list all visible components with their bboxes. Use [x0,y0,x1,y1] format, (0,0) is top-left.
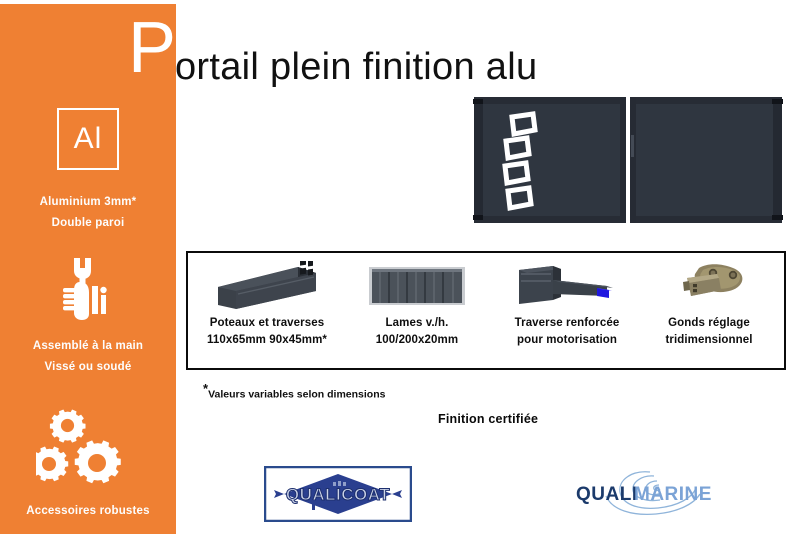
footnote-text: Valeurs variables selon dimensions [208,389,385,401]
product-sub-slats: 100/200x20mm [342,331,492,349]
sidebar-feature-assembly: Assemblé à la main Vissé ou soudé [0,252,176,378]
reinforced-crossbar-art [492,257,642,315]
sidebar-feature-aluminium-line2: Double paroi [0,213,176,234]
product-title-slats: Lames v./h. [342,315,492,331]
product-sub-crossbar: pour motorisation [492,331,642,349]
product-title-posts: Poteaux et traverses [192,315,342,331]
products-specs-box: Poteaux et traverses 110x65mm 90x45mm* [186,251,786,370]
aluminium-square-icon: Al [0,108,176,186]
certification-heading: Finition certifiée [438,412,538,426]
qualimarine-wordmark-quali: QUALI [576,484,638,505]
product-title-crossbar: Traverse renforcée [492,315,642,331]
sidebar-feature-assembly-line2: Vissé ou soudé [0,357,176,378]
slide-root: Al Aluminium 3mm* Double paroi [0,0,800,534]
sidebar-feature-assembly-line1: Assemblé à la main [0,336,176,357]
sidebar-feature-accessories-line1: Accessoires robustes [0,501,176,522]
gears-icon [0,409,176,495]
hand-wrench-icon [0,252,176,330]
sidebar-feature-aluminium-line1: Aluminium 3mm* [0,192,176,213]
product-item-posts: Poteaux et traverses 110x65mm 90x45mm* [192,257,342,367]
aluminium-square-outline: Al [57,108,119,170]
qualicoat-wordmark: QUALICOAT [286,485,390,504]
adjustable-hinge-art [634,257,784,315]
product-title-hinge: Gonds réglage [634,315,784,331]
qualicoat-logo: QUALICOAT [264,466,412,522]
page-title-text: ortail plein finition alu [175,46,537,88]
product-sub-posts: 110x65mm 90x45mm* [192,331,342,349]
double-swing-gate-illustration [472,93,784,233]
sidebar-feature-accessories: Accessoires robustes [0,409,176,522]
product-item-crossbar: Traverse renforcée pour motorisation [492,257,642,367]
product-item-hinge: Gonds réglage tridimensionnel [634,257,784,367]
product-item-slats: Lames v./h. 100/200x20mm [342,257,492,367]
aluminium-symbol-label: Al [74,124,103,154]
qualimarine-wordmark-marine: MARINE [634,484,712,505]
sidebar-feature-aluminium: Al Aluminium 3mm* Double paroi [0,100,176,234]
footnote: *Valeurs variables selon dimensions [203,381,385,401]
qualimarine-logo: QUALI MARINE [562,466,722,520]
aluminium-post-profile-art [192,257,342,315]
slats-panel-art [342,257,492,315]
page-title-dropcap: P [128,12,176,84]
product-sub-hinge: tridimensionnel [634,331,784,349]
